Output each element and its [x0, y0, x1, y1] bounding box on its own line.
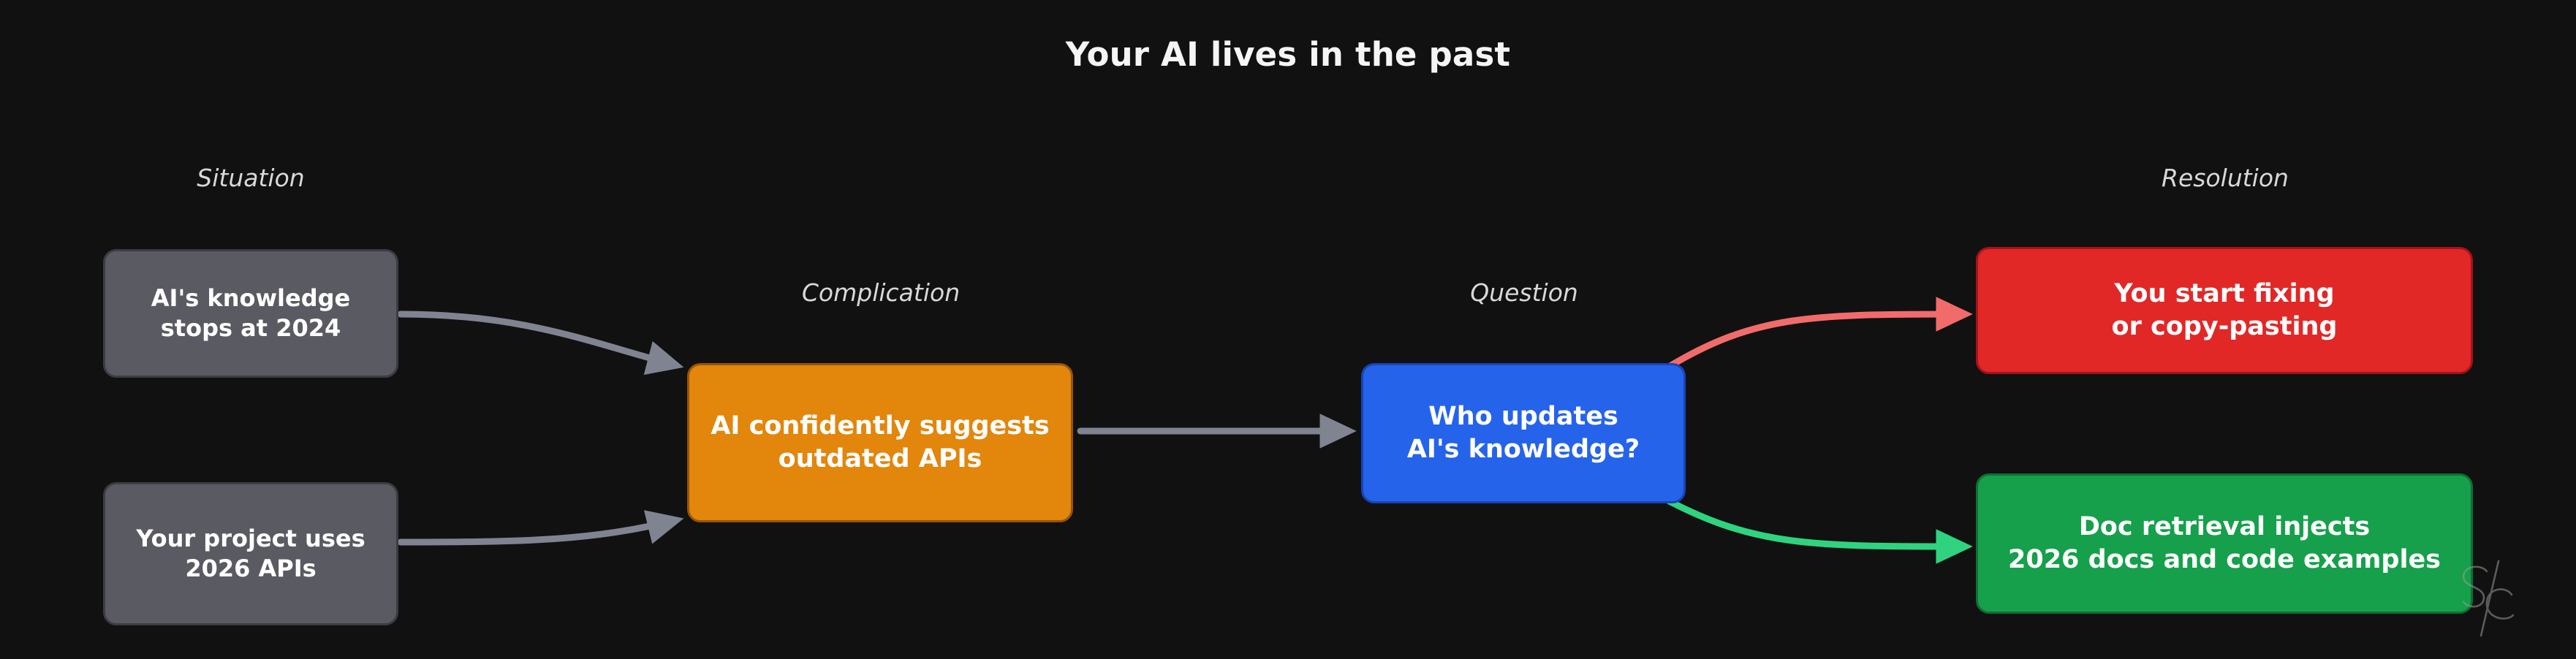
edge-knowledge-to-complication [401, 314, 676, 365]
node-outdated-api-suggestions[interactable]: AI confidently suggests outdated APIs [687, 363, 1073, 522]
node-project-uses-2026-apis[interactable]: Your project uses 2026 APIs [103, 482, 398, 625]
lane-label-question: Question [1470, 278, 1578, 307]
sc-monogram-watermark [2447, 554, 2535, 649]
node-manual-fixing[interactable]: You start fixing or copy-pasting [1976, 247, 2473, 374]
lane-label-resolution: Resolution [2162, 164, 2289, 192]
lane-label-situation: Situation [197, 164, 304, 192]
node-who-updates-knowledge[interactable]: Who updates AI's knowledge? [1361, 363, 1686, 503]
page-title: Your AI lives in the past [0, 35, 2576, 74]
node-ai-knowledge-cutoff[interactable]: AI's knowledge stops at 2024 [103, 249, 398, 378]
edge-question-to-retrieval [1665, 499, 1965, 546]
node-doc-retrieval[interactable]: Doc retrieval injects 2026 docs and code… [1976, 473, 2473, 614]
diagram-canvas: Your AI lives in the past Situation Comp… [0, 0, 2576, 659]
edge-question-to-fixing [1665, 314, 1965, 369]
lane-label-complication: Complication [802, 278, 960, 307]
edge-project-to-complication [401, 520, 676, 542]
